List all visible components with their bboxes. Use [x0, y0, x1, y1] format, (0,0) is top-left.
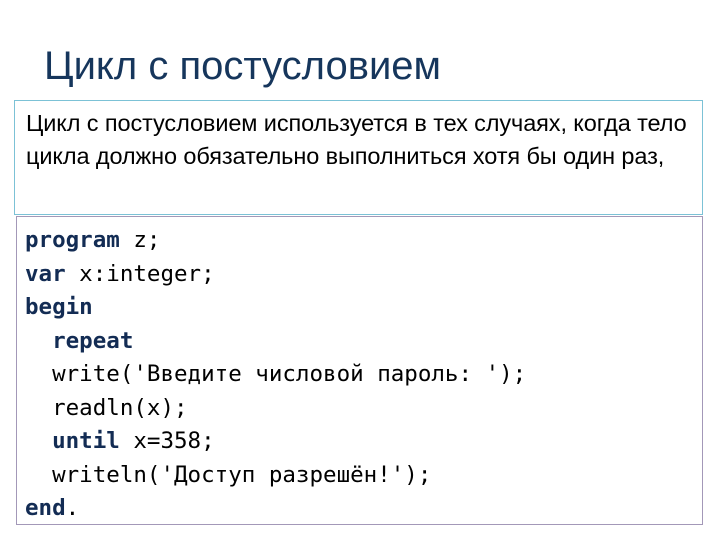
code-line: until x=358;: [25, 425, 526, 459]
code-line: writeln('Доступ разрешён!');: [25, 459, 526, 493]
code-text: x=358;: [120, 428, 215, 454]
code-line: program z;: [25, 224, 526, 258]
code-text: x:integer;: [66, 261, 215, 287]
code-keyword: begin: [25, 294, 93, 320]
code-keyword: var: [25, 261, 66, 287]
code-line: end.: [25, 492, 526, 525]
code-line: readln(x);: [25, 392, 526, 426]
code-line: write('Введите числовой пароль: ');: [25, 358, 526, 392]
code-keyword: until: [52, 428, 120, 454]
page-title: Цикл с постусловием: [44, 43, 441, 89]
code-keyword: repeat: [52, 328, 133, 354]
code-keyword: end: [25, 495, 66, 521]
code-keyword: program: [25, 227, 120, 253]
description-box: Цикл с постусловием используется в тех с…: [14, 100, 703, 215]
code-line: var x:integer;: [25, 258, 526, 292]
code-text: readln(x);: [39, 395, 188, 421]
code-line: repeat: [25, 325, 526, 359]
code-block: program z;var x:integer;begin repeat wri…: [16, 216, 703, 525]
code-listing: program z;var x:integer;begin repeat wri…: [25, 224, 526, 525]
code-text: write('Введите числовой пароль: ');: [52, 361, 526, 387]
code-line: begin: [25, 291, 526, 325]
code-text: .: [66, 495, 80, 521]
code-text: writeln('Доступ разрешён!');: [52, 462, 431, 488]
code-text: z;: [120, 227, 161, 253]
description-text: Цикл с постусловием используется в тех с…: [26, 107, 703, 173]
